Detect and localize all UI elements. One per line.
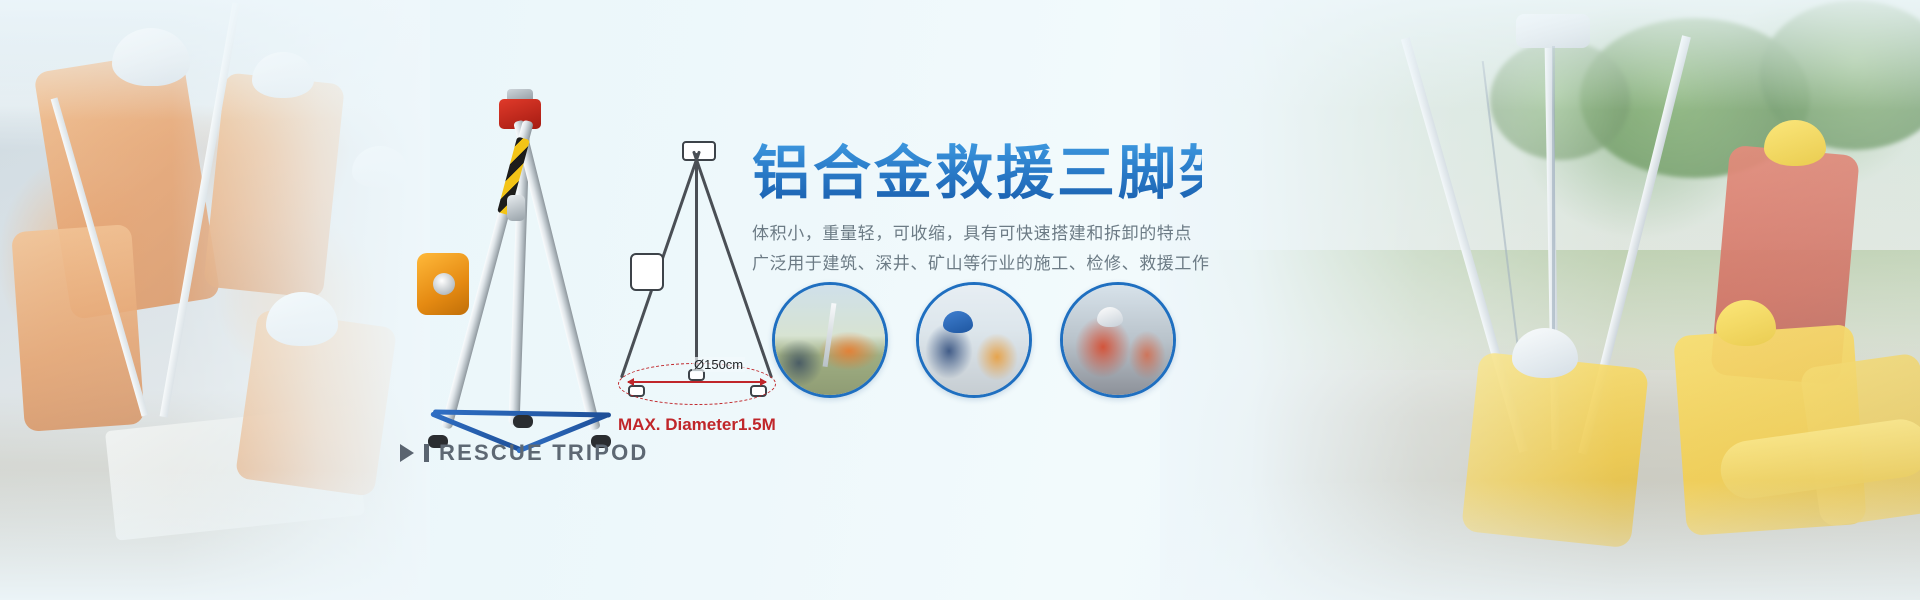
caption-bar-icon bbox=[424, 444, 429, 462]
product-caption: RESCUE TRIPOD bbox=[400, 440, 649, 466]
thumbnail-worker-inspection[interactable] bbox=[916, 282, 1032, 398]
product-caption-text: RESCUE TRIPOD bbox=[439, 440, 649, 466]
diagram-leg-rear bbox=[695, 153, 698, 381]
headline-block: 铝合金救援三脚架 体积小，重量轻，可收缩，具有可快速搭建和拆卸的特点 广泛用于建… bbox=[752, 140, 1202, 278]
left-photo-fade-top bbox=[0, 0, 430, 120]
play-triangle-icon bbox=[400, 444, 414, 462]
pulley-icon bbox=[507, 195, 525, 221]
right-photo-fade-top bbox=[1160, 0, 1920, 110]
max-diameter-label: MAX. Diameter1.5M bbox=[618, 415, 776, 435]
thumbnail-image bbox=[1063, 285, 1173, 395]
page-title: 铝合金救援三脚架 bbox=[752, 140, 1202, 206]
diameter-label: Ø150cm bbox=[692, 357, 745, 372]
right-photo-fade-bottom bbox=[1160, 480, 1920, 600]
thumbnail-row bbox=[772, 282, 1176, 398]
thumbnail-confined-space-rescue[interactable] bbox=[1060, 282, 1176, 398]
subtitle-line-1: 体积小，重量轻，可收缩，具有可快速搭建和拆卸的特点 bbox=[752, 220, 1202, 248]
thumbnail-image bbox=[775, 285, 885, 395]
right-rescue-scene-photo bbox=[1160, 0, 1920, 600]
subtitle-line-2: 广泛用于建筑、深井、矿山等行业的施工、检修、救援工作 bbox=[752, 250, 1202, 278]
thumbnail-field-rescue-training[interactable] bbox=[772, 282, 888, 398]
left-photo-fade-bottom bbox=[0, 470, 430, 600]
tripod-foot bbox=[513, 415, 533, 428]
left-rescue-scene-photo bbox=[0, 0, 430, 600]
diagram-diameter-arrow bbox=[628, 381, 766, 383]
winch-hub bbox=[433, 273, 455, 295]
product-banner: RESCUE TRIPOD Ø150cm MAX. Diameter1.5M 铝… bbox=[0, 0, 1920, 600]
thumbnail-image bbox=[919, 285, 1029, 395]
diagram-winch bbox=[630, 253, 664, 291]
